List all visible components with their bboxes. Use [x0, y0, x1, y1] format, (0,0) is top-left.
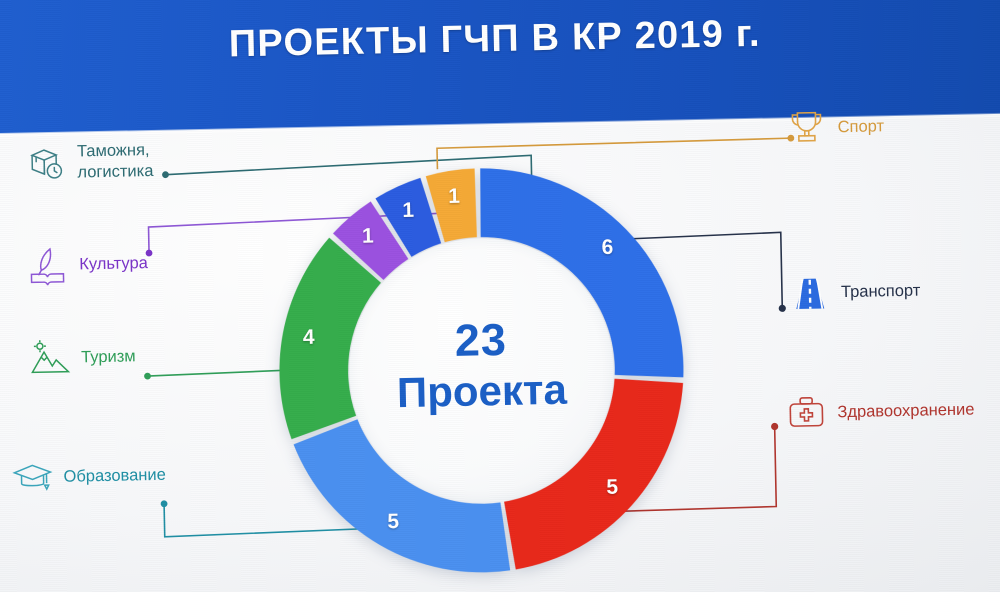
road-icon	[788, 270, 833, 315]
donut-chart: 23 Проекта 6554111	[275, 164, 687, 576]
segment-value: 4	[303, 326, 315, 350]
mountains-icon	[28, 336, 73, 381]
legend-item-tourism[interactable]: Туризм	[28, 334, 136, 380]
legend-item-education[interactable]: Образование	[10, 453, 166, 500]
legend-label-transport: Транспорт	[841, 280, 921, 302]
first-aid-kit-icon	[784, 390, 829, 435]
legend-item-customs[interactable]: Таможня, логистика	[24, 139, 154, 186]
center-total: 23	[278, 310, 683, 370]
legend-label-sport: Спорт	[837, 116, 884, 138]
segment-value: 1	[402, 199, 414, 223]
legend-label-education: Образование	[63, 464, 166, 487]
segment-value: 5	[387, 510, 399, 534]
presentation-slide: ПРОЕКТЫ ГЧП В КР 2019 г.	[0, 0, 1000, 592]
legend-label-tourism: Туризм	[81, 346, 136, 368]
legend-item-health[interactable]: Здравоохранение	[784, 388, 975, 436]
trophy-icon	[784, 105, 829, 150]
legend-label-health: Здравоохранение	[837, 399, 974, 422]
segment-value: 1	[448, 185, 460, 209]
segment-value: 5	[606, 476, 618, 500]
center-caption: Проекта	[279, 363, 684, 419]
segment-value: 6	[601, 236, 613, 260]
graduation-cap-icon	[10, 455, 55, 500]
quill-book-icon	[26, 243, 71, 288]
segment-value: 1	[362, 224, 374, 248]
screenshot-stage: ПРОЕКТЫ ГЧП В КР 2019 г.	[0, 0, 1000, 592]
legend-item-culture[interactable]: Культура	[26, 241, 148, 287]
legend-label-customs: Таможня, логистика	[77, 140, 154, 183]
legend-item-sport[interactable]: Спорт	[784, 104, 884, 150]
legend-item-transport[interactable]: Транспорт	[788, 269, 921, 316]
box-logistics-icon	[24, 141, 69, 186]
legend-label-culture: Культура	[79, 253, 148, 275]
